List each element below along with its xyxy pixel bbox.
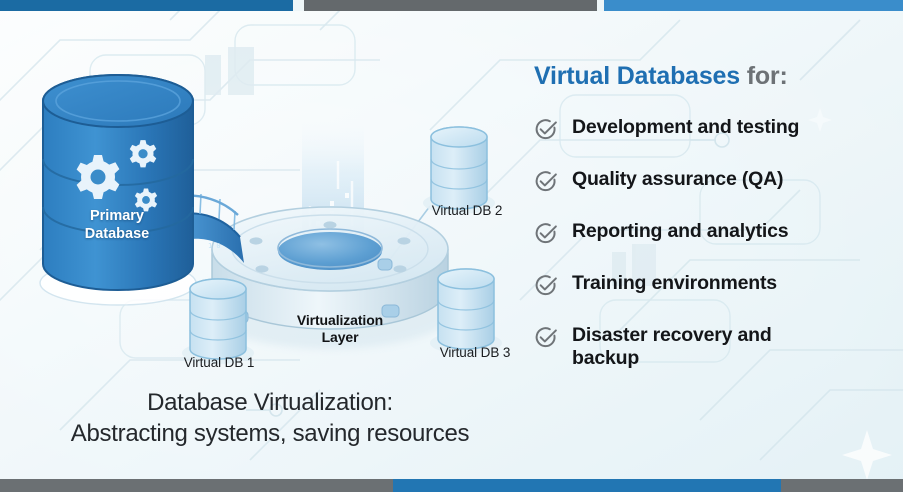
benefits-panel: Virtual Databases for: Development and t… [534,62,894,391]
primary-database-cylinder [40,75,196,305]
segment-gray-left [0,479,393,492]
benefit-item-3: Reporting and analytics [534,220,894,251]
virtual-db-3-cylinder [430,269,502,354]
segment-gray [304,0,597,11]
check-circle-icon [534,325,559,355]
virtual-db-2-cylinder [423,127,495,214]
benefit-item-2: Quality assurance (QA) [534,168,894,199]
benefit-item-label: Training environments [572,272,777,295]
segment-gap-1 [293,0,304,11]
virtual-db-3-label: Virtual DB 3 [420,345,530,360]
bottom-accent-bar [0,479,903,492]
primary-database-label: Primary Database [62,208,172,243]
segment-blue [604,0,903,11]
segment-gap-2 [597,0,604,11]
benefit-item-5: Disaster recovery and backup [534,324,894,370]
benefit-item-label: Disaster recovery and backup [572,324,822,370]
page-title: Virtual Databases for: [534,62,894,91]
segment-gray-right [781,479,903,492]
svg-text:1 0: 1 0 [208,242,221,250]
caption-line-2: Abstracting systems, saving resources [10,419,530,450]
virtual-db-2-label: Virtual DB 2 [417,203,517,218]
title-suffix: for: [747,62,788,90]
check-circle-icon [534,169,559,199]
caption-block: Database Virtualization: Abstracting sys… [10,388,530,449]
infographic-canvas: 1 0 1 0 1 1 1 0 [0,0,903,492]
virtual-db-1-cylinder [182,279,254,364]
segment-blue-mid [393,479,781,492]
check-circle-icon [534,221,559,251]
segment-dark-blue [0,0,293,11]
virtual-db-1-label: Virtual DB 1 [169,355,269,370]
virtualization-layer-label: Virtualization Layer [270,312,410,346]
check-circle-icon [534,117,559,147]
benefits-list: Development and testing Quality assuranc… [534,116,894,370]
benefit-item-label: Quality assurance (QA) [572,168,783,191]
benefit-item-label: Reporting and analytics [572,220,788,243]
benefit-item-4: Training environments [534,272,894,303]
check-circle-icon [534,273,559,303]
caption-line-1: Database Virtualization: [10,388,530,419]
benefit-item-1: Development and testing [534,116,894,147]
top-accent-bar [0,0,903,11]
benefit-item-label: Development and testing [572,116,799,139]
title-emphasis: Virtual Databases [534,62,740,90]
